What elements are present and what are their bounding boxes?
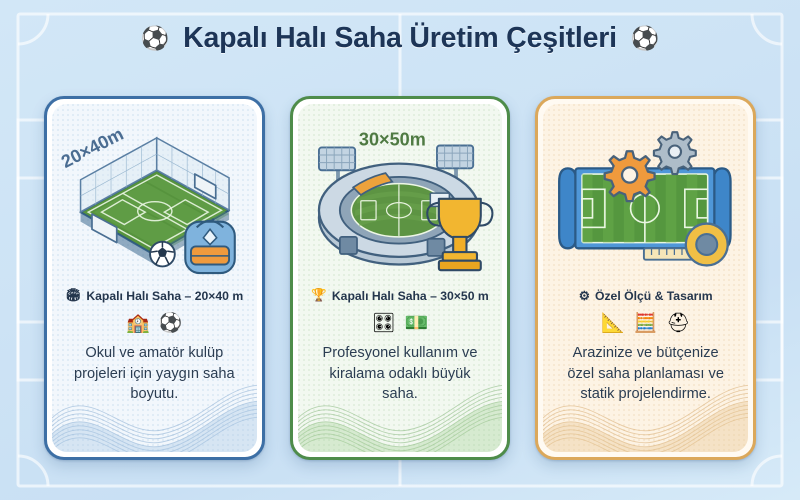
money-icon: 💵 bbox=[405, 314, 429, 333]
card-custom-design[interactable]: ⚙ Özel Ölçü & Tasarım 📐 🧮 ⛑ Arazinize ve… bbox=[535, 96, 756, 460]
card-emoji-row-custom: 📐 🧮 ⛑ bbox=[601, 314, 690, 333]
card-heading-30x50: 🏆 Kapalı Halı Saha – 30×50 m bbox=[311, 288, 488, 303]
gear-icon: ⚙ bbox=[579, 288, 590, 303]
card-heading-text: Kapalı Halı Saha – 20×40 m bbox=[86, 289, 243, 303]
card-body-20x40: Okul ve amatör kulüp projeleri için yayg… bbox=[52, 343, 257, 405]
page-title: Kapalı Halı Saha Üretim Çeşitleri bbox=[183, 22, 617, 55]
card-heading-text: Özel Ölçü & Tasarım bbox=[595, 289, 713, 303]
card-illustration-20x40: 20×40m bbox=[52, 104, 257, 286]
scoreboard-icon: 🎛 bbox=[372, 314, 396, 333]
page-header: ⚽ Kapalı Halı Saha Üretim Çeşitleri ⚽ bbox=[0, 22, 800, 55]
soccer-ball-prop bbox=[150, 242, 175, 267]
card-illustration-custom bbox=[543, 104, 748, 286]
soccer-ball-icon-right: ⚽ bbox=[631, 27, 660, 50]
school-icon: 🏫 bbox=[126, 314, 150, 333]
stadium-icon: 🏟 bbox=[65, 288, 81, 303]
card-deck: 20×40m bbox=[44, 96, 756, 460]
card-body-custom: Arazinize ve bütçenize özel saha planlam… bbox=[543, 343, 748, 405]
card-emoji-row-30x50: 🎛 💵 bbox=[372, 314, 429, 333]
backpack-prop bbox=[185, 221, 235, 273]
card-30x50[interactable]: 30×50m bbox=[290, 96, 511, 460]
gear-orange-icon bbox=[605, 151, 655, 201]
hard-hat-icon: ⛑ bbox=[666, 314, 690, 333]
soccer-ball-icon: ⚽ bbox=[159, 314, 183, 333]
card-20x40[interactable]: 20×40m bbox=[44, 96, 265, 460]
trophy-icon: 🏆 bbox=[311, 288, 327, 303]
card-emoji-row-20x40: 🏫 ⚽ bbox=[126, 314, 182, 333]
size-label-30x50: 30×50m bbox=[359, 129, 426, 149]
calculator-icon: 🧮 bbox=[634, 314, 658, 333]
soccer-ball-icon-left: ⚽ bbox=[140, 27, 169, 50]
card-heading-custom: ⚙ Özel Ölçü & Tasarım bbox=[579, 288, 713, 303]
card-heading-text: Kapalı Halı Saha – 30×50 m bbox=[332, 289, 489, 303]
gear-gray-icon bbox=[654, 132, 696, 174]
card-body-30x50: Profesyonel kullanım ve kiralama odaklı … bbox=[298, 343, 503, 405]
card-heading-20x40: 🏟 Kapalı Halı Saha – 20×40 m bbox=[65, 288, 243, 303]
compass-divider-icon: 📐 bbox=[601, 314, 625, 333]
card-illustration-30x50: 30×50m bbox=[298, 104, 503, 286]
